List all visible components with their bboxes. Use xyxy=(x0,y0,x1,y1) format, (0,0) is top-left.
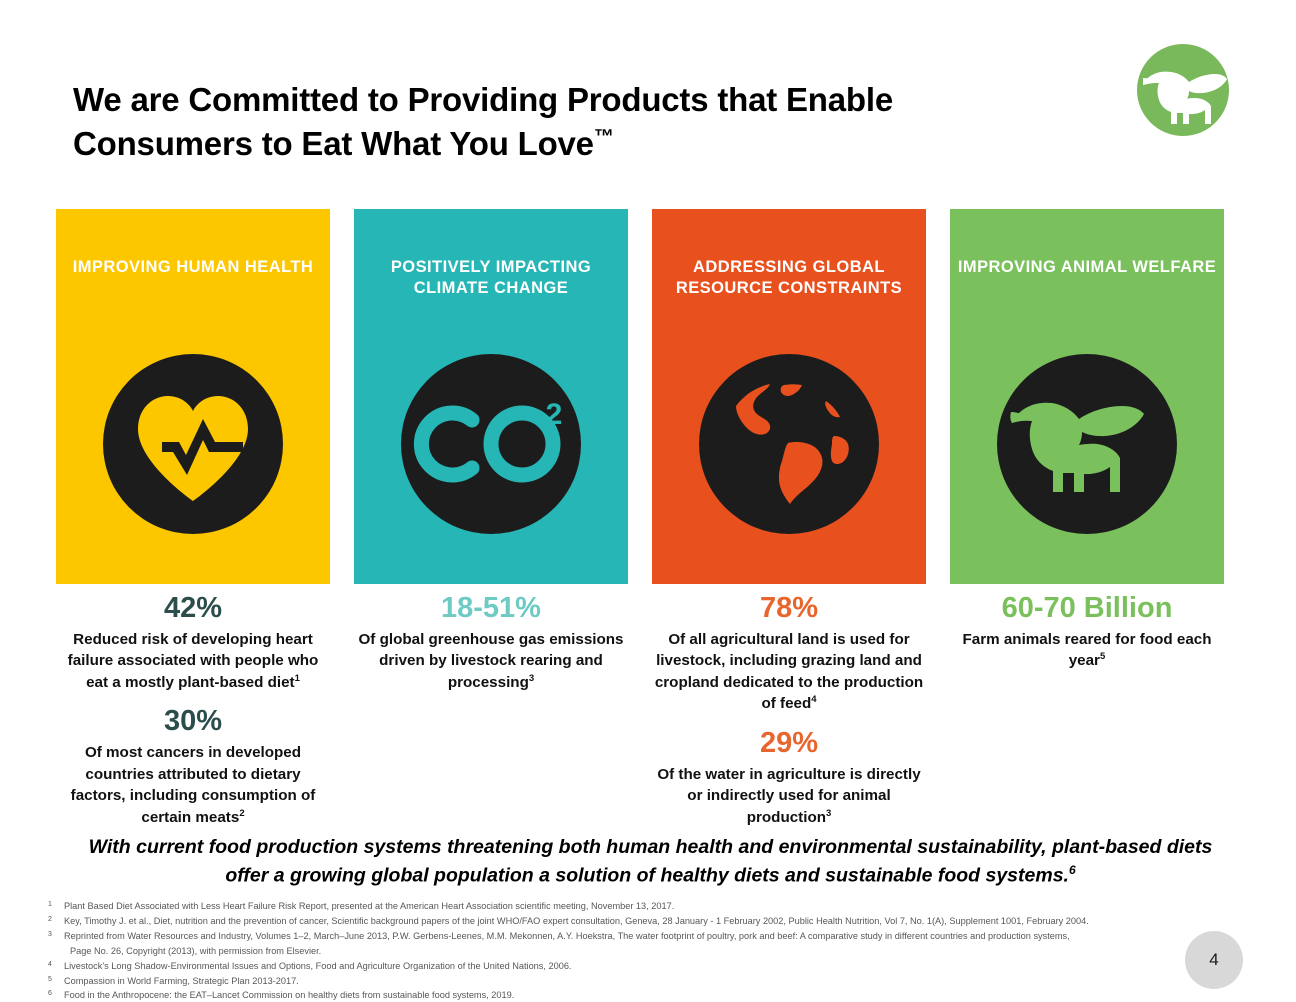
footnote-text: Food in the Anthropocene: the EAT–Lancet… xyxy=(64,988,1238,1002)
panel-heading: ADDRESSING GLOBAL RESOURCE CONSTRAINTS xyxy=(652,257,926,298)
footnote-item: 5 Compassion in World Farming, Strategic… xyxy=(48,974,1238,989)
stat-column-health: 42% Reduced risk of developing heart fai… xyxy=(56,592,330,827)
footnote-number: 2 xyxy=(48,914,64,925)
footnotes: 1 Plant Based Diet Associated with Less … xyxy=(48,899,1238,1002)
footnote-ref: 3 xyxy=(529,673,534,684)
stat-description: Of global greenhouse gas emissions drive… xyxy=(354,629,628,694)
page-number: 4 xyxy=(1185,931,1243,989)
stat-column-welfare: 60-70 Billion Farm animals reared for fo… xyxy=(950,592,1224,827)
stat-description: Reduced risk of developing heart failure… xyxy=(56,629,330,694)
stat-description: Of most cancers in developed countries a… xyxy=(56,742,330,828)
category-panels: IMPROVING HUMAN HEALTH POSITIVELY IMPACT… xyxy=(56,209,1236,584)
panel-animal-welfare: IMPROVING ANIMAL WELFARE xyxy=(950,209,1224,584)
globe-icon xyxy=(652,351,926,537)
footnote-item: 1 Plant Based Diet Associated with Less … xyxy=(48,899,1238,914)
cow-icon xyxy=(950,351,1224,537)
svg-text:2: 2 xyxy=(546,398,563,431)
closing-text: With current food production systems thr… xyxy=(89,836,1213,886)
footnote-ref: 4 xyxy=(811,694,816,705)
footnote-item: 3 Reprinted from Water Resources and Ind… xyxy=(48,929,1238,944)
stat-description: Of all agricultural land is used for liv… xyxy=(652,629,926,715)
footnote-number: 3 xyxy=(48,929,64,940)
footnote-ref: 1 xyxy=(295,673,300,684)
heart-pulse-icon xyxy=(56,351,330,537)
stat-description: Of the water in agriculture is directly … xyxy=(652,764,926,829)
footnote-item: 2 Key, Timothy J. et al., Diet, nutritio… xyxy=(48,914,1238,929)
stat-value: 30% xyxy=(56,705,330,739)
footnote-number: 5 xyxy=(48,974,64,985)
panel-heading: POSITIVELY IMPACTING CLIMATE CHANGE xyxy=(354,257,628,298)
closing-statement: With current food production systems thr… xyxy=(78,834,1223,890)
footnote-number: 4 xyxy=(48,959,64,970)
stat-value: 78% xyxy=(652,592,926,626)
footnote-number: 1 xyxy=(48,899,64,910)
footnote-text: Plant Based Diet Associated with Less He… xyxy=(64,899,1238,914)
footnote-continuation: Page No. 26, Copyright (2013), with perm… xyxy=(48,944,1238,959)
footnote-ref: 2 xyxy=(239,808,244,819)
footnote-number: 6 xyxy=(48,988,64,999)
stat-description: Farm animals reared for food each year5 xyxy=(950,629,1224,672)
title-line-1: We are Committed to Providing Products t… xyxy=(73,81,893,118)
stat-value: 42% xyxy=(56,592,330,626)
footnote-item: 4 Livestock’s Long Shadow-Environmental … xyxy=(48,959,1238,974)
stat-column-resources: 78% Of all agricultural land is used for… xyxy=(652,592,926,827)
panel-resource-constraints: ADDRESSING GLOBAL RESOURCE CONSTRAINTS xyxy=(652,209,926,584)
statistics-row: 42% Reduced risk of developing heart fai… xyxy=(56,592,1236,827)
panel-improving-human-health: IMPROVING HUMAN HEALTH xyxy=(56,209,330,584)
trademark-symbol: ™ xyxy=(594,126,614,148)
slide: We are Committed to Providing Products t… xyxy=(0,0,1296,1002)
footnote-item: 6 Food in the Anthropocene: the EAT–Lanc… xyxy=(48,988,1238,1002)
co2-icon: 2 xyxy=(354,351,628,537)
stat-value: 29% xyxy=(652,727,926,761)
panel-heading: IMPROVING ANIMAL WELFARE xyxy=(950,257,1224,278)
footnote-text: Reprinted from Water Resources and Indus… xyxy=(64,929,1238,944)
footnote-ref: 3 xyxy=(826,808,831,819)
footnote-text: Compassion in World Farming, Strategic P… xyxy=(64,974,1238,989)
page-title: We are Committed to Providing Products t… xyxy=(73,78,1033,165)
footnote-text: Key, Timothy J. et al., Diet, nutrition … xyxy=(64,914,1238,929)
title-line-2: Consumers to Eat What You Love xyxy=(73,125,594,162)
stat-column-climate: 18-51% Of global greenhouse gas emission… xyxy=(354,592,628,827)
footnote-ref: 5 xyxy=(1100,651,1105,662)
panel-heading: IMPROVING HUMAN HEALTH xyxy=(56,257,330,278)
panel-climate-change: POSITIVELY IMPACTING CLIMATE CHANGE 2 xyxy=(354,209,628,584)
stat-value: 60-70 Billion xyxy=(950,592,1224,626)
footnote-ref: 6 xyxy=(1069,863,1076,877)
footnote-text: Livestock’s Long Shadow-Environmental Is… xyxy=(64,959,1238,974)
cow-logo-icon xyxy=(1133,40,1233,140)
stat-value: 18-51% xyxy=(354,592,628,626)
